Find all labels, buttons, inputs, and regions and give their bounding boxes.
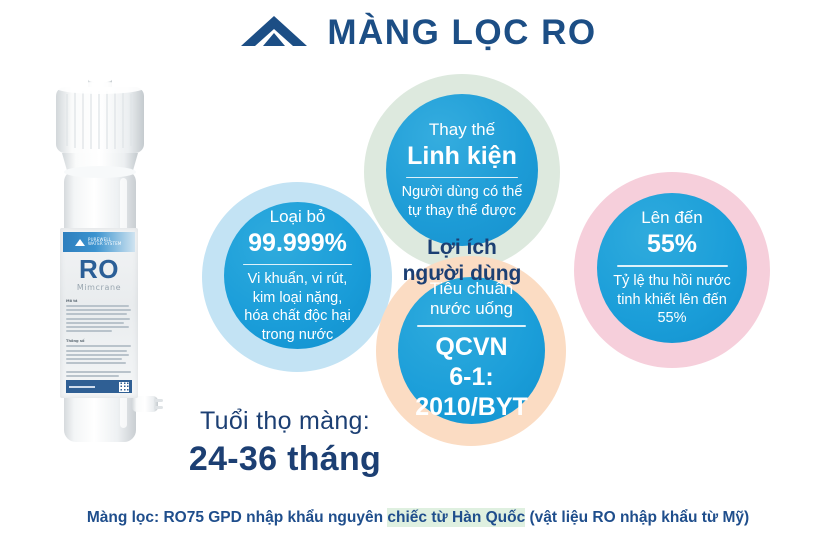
petal-desc-line-1: Tỷ lệ thu hồi nước	[613, 272, 731, 291]
lifespan-value: 24-36 tháng	[150, 439, 420, 480]
petal-top-line: Loại bỏ	[270, 207, 326, 227]
mountain-chevron-logo-icon	[239, 12, 309, 52]
divider	[406, 177, 518, 179]
label-brand-text: PUREWELLWATER SYSTEM	[88, 238, 122, 247]
petal-desc-line-2: kim loại nặng,	[253, 289, 342, 308]
qr-code-icon	[119, 382, 129, 392]
petal-desc-line-1: Người dùng có thể	[402, 183, 523, 202]
petal-headline: Linh kiện	[407, 141, 517, 171]
diagram-center-label: Lợi ích người dùng	[386, 235, 538, 288]
petal-ty-le-thu-hoi[interactable]: Lên đến 55% Tỷ lệ thu hồi nước tinh khiế…	[597, 193, 747, 343]
label-section2-title: Thông số	[66, 339, 132, 343]
footer-caption: Màng lọc: RO75 GPD nhập khẩu nguyên chiế…	[0, 498, 836, 538]
petal-top-line: Thay thế	[429, 120, 495, 140]
petal-desc-line-3: 55%	[657, 309, 686, 328]
petal-headline: 55%	[647, 229, 697, 259]
divider	[417, 325, 526, 327]
label-model-sub: Mimcrane	[60, 283, 138, 292]
caption-text: Màng lọc: RO75 GPD nhập khẩu nguyên chiế…	[87, 509, 749, 527]
petal-linh-kien[interactable]: Thay thế Linh kiện Người dùng có thể tự …	[386, 94, 538, 246]
divider	[243, 264, 352, 266]
header: MÀNG LỌC RO	[0, 6, 836, 58]
label-section1-title: Mô tả	[66, 299, 132, 303]
cartridge-label: PUREWELLWATER SYSTEM RO Mimcrane Mô tả T…	[60, 228, 138, 398]
petal-top-line: Lên đến	[641, 208, 702, 228]
petal-desc-line-4: trong nước	[262, 326, 334, 345]
petal-tieu-chuan[interactable]: Tiêu chuẩn nước uống QCVN 6-1: 2010/BYT	[398, 277, 545, 424]
petal-desc-line-2: tự thay thế được	[408, 202, 516, 221]
label-brand-band: PUREWELLWATER SYSTEM	[63, 232, 135, 252]
caption-part-2: (vật liệu RO nhập khẩu từ Mỹ)	[525, 509, 749, 526]
petal-headline-1: QCVN	[435, 332, 507, 362]
page-title: MÀNG LỌC RO	[327, 15, 596, 50]
petal-headline: 99.999%	[248, 228, 347, 258]
lifespan-label: Tuổi thọ màng:	[150, 406, 420, 436]
caption-part-1: Màng lọc: RO75 GPD nhập khẩu nguyên	[87, 509, 388, 526]
petal-headline-2: 6-1: 2010/BYT	[398, 362, 545, 422]
caption-highlight: chiếc từ Hàn Quốc	[387, 508, 525, 527]
center-label-line-2: người dùng	[386, 261, 538, 287]
petal-top-line-2: nước uống	[430, 299, 513, 319]
petal-desc-line-2: tinh khiết lên đến	[617, 291, 727, 310]
label-footer-bar	[66, 380, 132, 393]
divider	[617, 265, 728, 267]
center-label-line-1: Lợi ích	[386, 235, 538, 261]
petal-loai-bo[interactable]: Loại bỏ 99.999% Vi khuẩn, vi rút, kim lo…	[224, 202, 371, 349]
label-model: RO	[60, 256, 138, 282]
infographic-canvas: MÀNG LỌC RO	[0, 0, 836, 538]
label-description-block: Mô tả Thông số	[66, 299, 132, 377]
ro-membrane-filter-image: PUREWELLWATER SYSTEM RO Mimcrane Mô tả T…	[36, 78, 164, 458]
brand-chevron-icon	[75, 239, 85, 246]
petal-desc-line-3: hóa chất độc hại	[244, 307, 350, 326]
petal-desc-line-1: Vi khuẩn, vi rút,	[248, 270, 348, 289]
membrane-lifespan: Tuổi thọ màng: 24-36 tháng	[150, 406, 420, 480]
